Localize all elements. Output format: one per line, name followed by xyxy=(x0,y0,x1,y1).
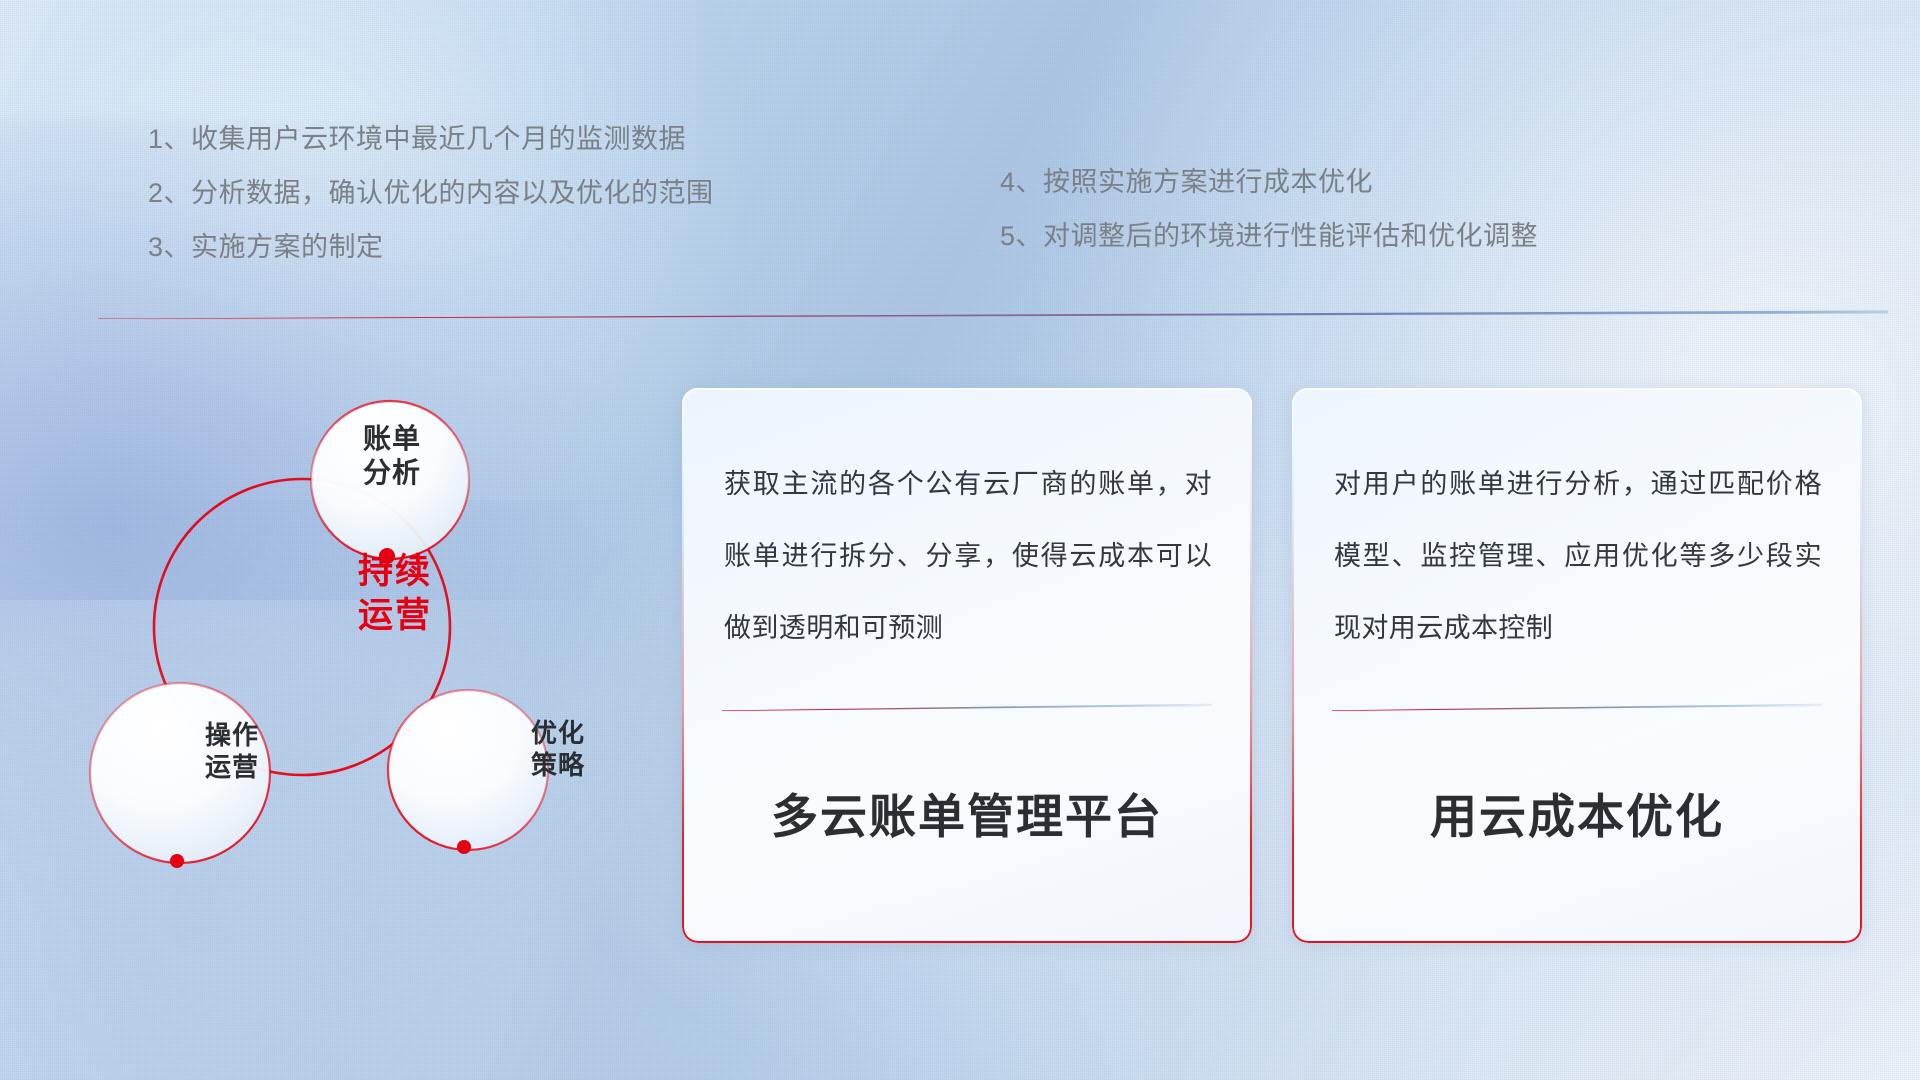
card-body-text: 对用户的账单进行分析，通过匹配价格模型、监控管理、应用优化等多少段实现对用云成本… xyxy=(1334,448,1822,664)
card-title: 用云成本优化 xyxy=(1292,778,1862,847)
cycle-center-label: 持续 运营 xyxy=(280,550,510,638)
connector-dot-left xyxy=(170,854,184,868)
card-title: 多云账单管理平台 xyxy=(682,778,1252,847)
card-body-text: 获取主流的各个公有云厂商的账单，对账单进行拆分、分享，使得云成本可以做到透明和可… xyxy=(724,448,1212,664)
cycle-diagram: 账单 分析 操作 运营 优化 策略 持续 运营 xyxy=(90,345,620,945)
section-divider xyxy=(98,310,1888,319)
steps-list-right: 4、按照实施方案进行成本优化 5、对调整后的环境进行性能评估和优化调整 xyxy=(1000,155,1538,263)
card-divider xyxy=(722,703,1212,711)
step-item-5: 5、对调整后的环境进行性能评估和优化调整 xyxy=(1000,209,1538,263)
step-item-1: 1、收集用户云环境中最近几个月的监测数据 xyxy=(148,112,714,166)
steps-list-left: 1、收集用户云环境中最近几个月的监测数据 2、分析数据，确认优化的内容以及优化的… xyxy=(148,112,714,274)
node-label-operations: 操作 运营 xyxy=(142,720,322,783)
node-label-bill-analysis: 账单 分析 xyxy=(302,422,482,490)
card-cloud-cost-optimization[interactable]: 对用户的账单进行分析，通过匹配价格模型、监控管理、应用优化等多少段实现对用云成本… xyxy=(1292,388,1862,943)
step-item-3: 3、实施方案的制定 xyxy=(148,220,714,274)
slide-root: 1、收集用户云环境中最近几个月的监测数据 2、分析数据，确认优化的内容以及优化的… xyxy=(0,0,1920,1080)
node-label-optimization: 优化 策略 xyxy=(468,718,648,781)
connector-dot-right xyxy=(457,840,471,854)
step-item-4: 4、按照实施方案进行成本优化 xyxy=(1000,155,1538,209)
card-divider xyxy=(1332,703,1822,711)
card-multi-cloud-billing[interactable]: 获取主流的各个公有云厂商的账单，对账单进行拆分、分享，使得云成本可以做到透明和可… xyxy=(682,388,1252,943)
step-item-2: 2、分析数据，确认优化的内容以及优化的范围 xyxy=(148,166,714,220)
